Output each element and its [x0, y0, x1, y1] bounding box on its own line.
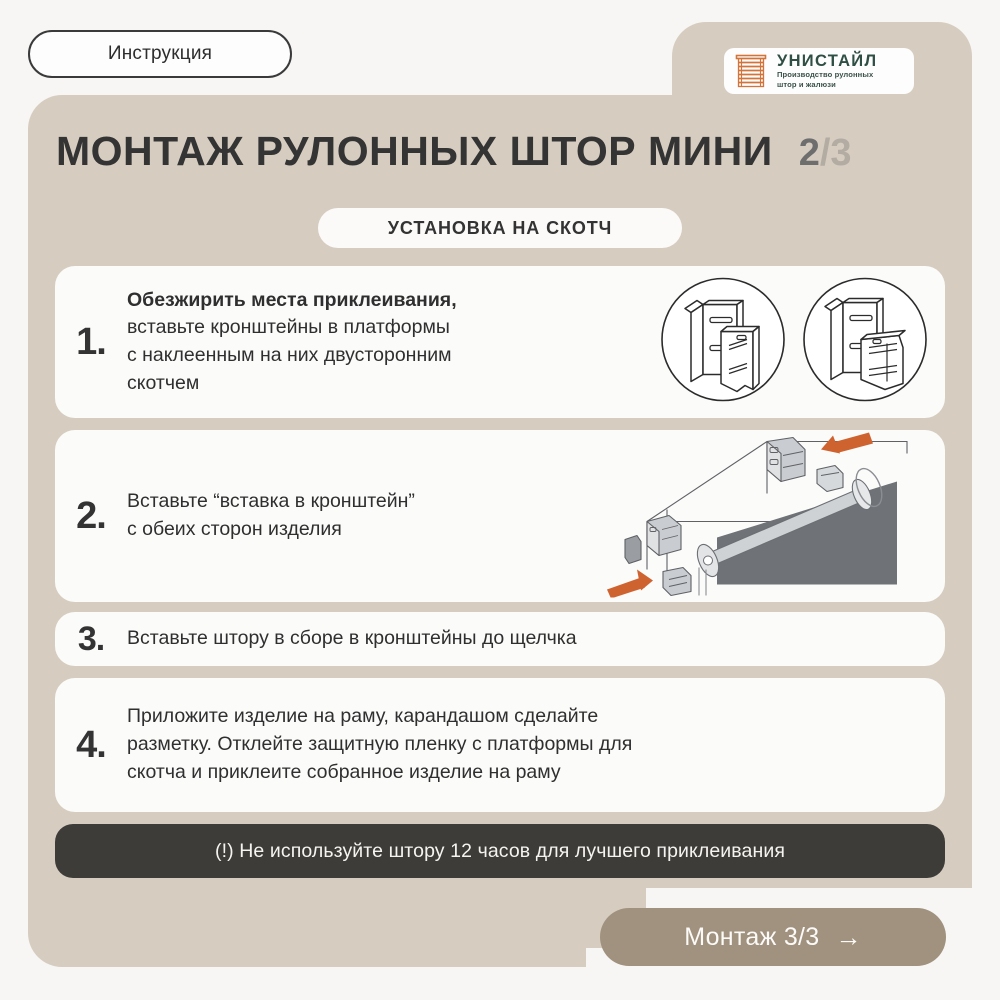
page-title: МОНТАЖ РУЛОННЫХ ШТОР МИНИ 2/3: [56, 128, 956, 190]
brand-logo-text: УНИСТАЙЛ Производство рулонных штор и жа…: [777, 53, 877, 89]
step-line: скотчем: [127, 370, 537, 398]
brand-tagline-line2: штор и жалюзи: [777, 80, 877, 89]
step-line: скотча и приклеите собранное изделие на …: [127, 759, 935, 787]
instruction-badge-label: Инструкция: [108, 43, 212, 65]
roller-blind-assembly-diagram: [607, 430, 937, 603]
step1-illustrations: [657, 274, 931, 411]
step-card-2: 2. Вставьте “вставка в кронштейн” с обеи…: [55, 430, 945, 602]
step-line: Обезжирить места приклеивания,: [127, 287, 537, 315]
section-subtitle-label: УСТАНОВКА НА СКОТЧ: [388, 218, 612, 239]
section-subtitle: УСТАНОВКА НА СКОТЧ: [318, 208, 682, 248]
step-line: с наклеенным на них двусторонним: [127, 342, 537, 370]
step-card-3: 3. Вставьте штору в сборе в кронштейны д…: [55, 612, 945, 666]
arrow-right-icon: →: [836, 924, 862, 950]
brand-name: УНИСТАЙЛ: [777, 53, 877, 70]
step-number-1: 1.: [55, 321, 127, 364]
instruction-page: Инструкция УНИСТАЙЛ Производство рулонны…: [0, 0, 1000, 1000]
step-text-3: Вставьте штору в сборе в кронштейны до щ…: [127, 625, 945, 653]
instruction-badge: Инструкция: [28, 30, 292, 78]
warning-banner-text: (!) Не используйте штору 12 часов для лу…: [215, 840, 785, 863]
brand-tagline-line1: Производство рулонных: [777, 70, 877, 79]
step-line: вставьте кронштейны в платформы: [127, 314, 537, 342]
brand-logo: УНИСТАЙЛ Производство рулонных штор и жа…: [724, 48, 914, 94]
step-number-3: 3.: [55, 620, 127, 659]
step-line: Приложите изделие на раму, карандашом сд…: [127, 703, 935, 731]
bracket-platform-diagram-1: [657, 274, 789, 411]
step-line: Вставьте штору в сборе в кронштейны до щ…: [127, 625, 935, 653]
page-counter: 2/3: [799, 132, 852, 175]
step-number-2: 2.: [55, 495, 127, 538]
step-line: разметку. Отклейте защитную пленку с пла…: [127, 731, 935, 759]
step-text-1: Обезжирить места приклеивания, вставьте …: [127, 287, 547, 398]
step-text-4: Приложите изделие на раму, карандашом сд…: [127, 703, 945, 786]
next-page-button[interactable]: Монтаж 3/3 →: [600, 908, 946, 966]
roller-blind-icon: [732, 52, 770, 90]
step-number-4: 4.: [55, 724, 127, 767]
page-title-text: МОНТАЖ РУЛОННЫХ ШТОР МИНИ: [56, 128, 773, 175]
next-page-button-label: Монтаж 3/3: [684, 923, 819, 952]
bracket-platform-diagram-2: [799, 274, 931, 411]
page-counter-current: 2: [799, 132, 820, 174]
step-card-4: 4. Приложите изделие на раму, карандашом…: [55, 678, 945, 812]
step-card-1: 1. Обезжирить места приклеивания, вставь…: [55, 266, 945, 418]
warning-banner: (!) Не используйте штору 12 часов для лу…: [55, 824, 945, 878]
page-counter-total: /3: [820, 132, 852, 174]
